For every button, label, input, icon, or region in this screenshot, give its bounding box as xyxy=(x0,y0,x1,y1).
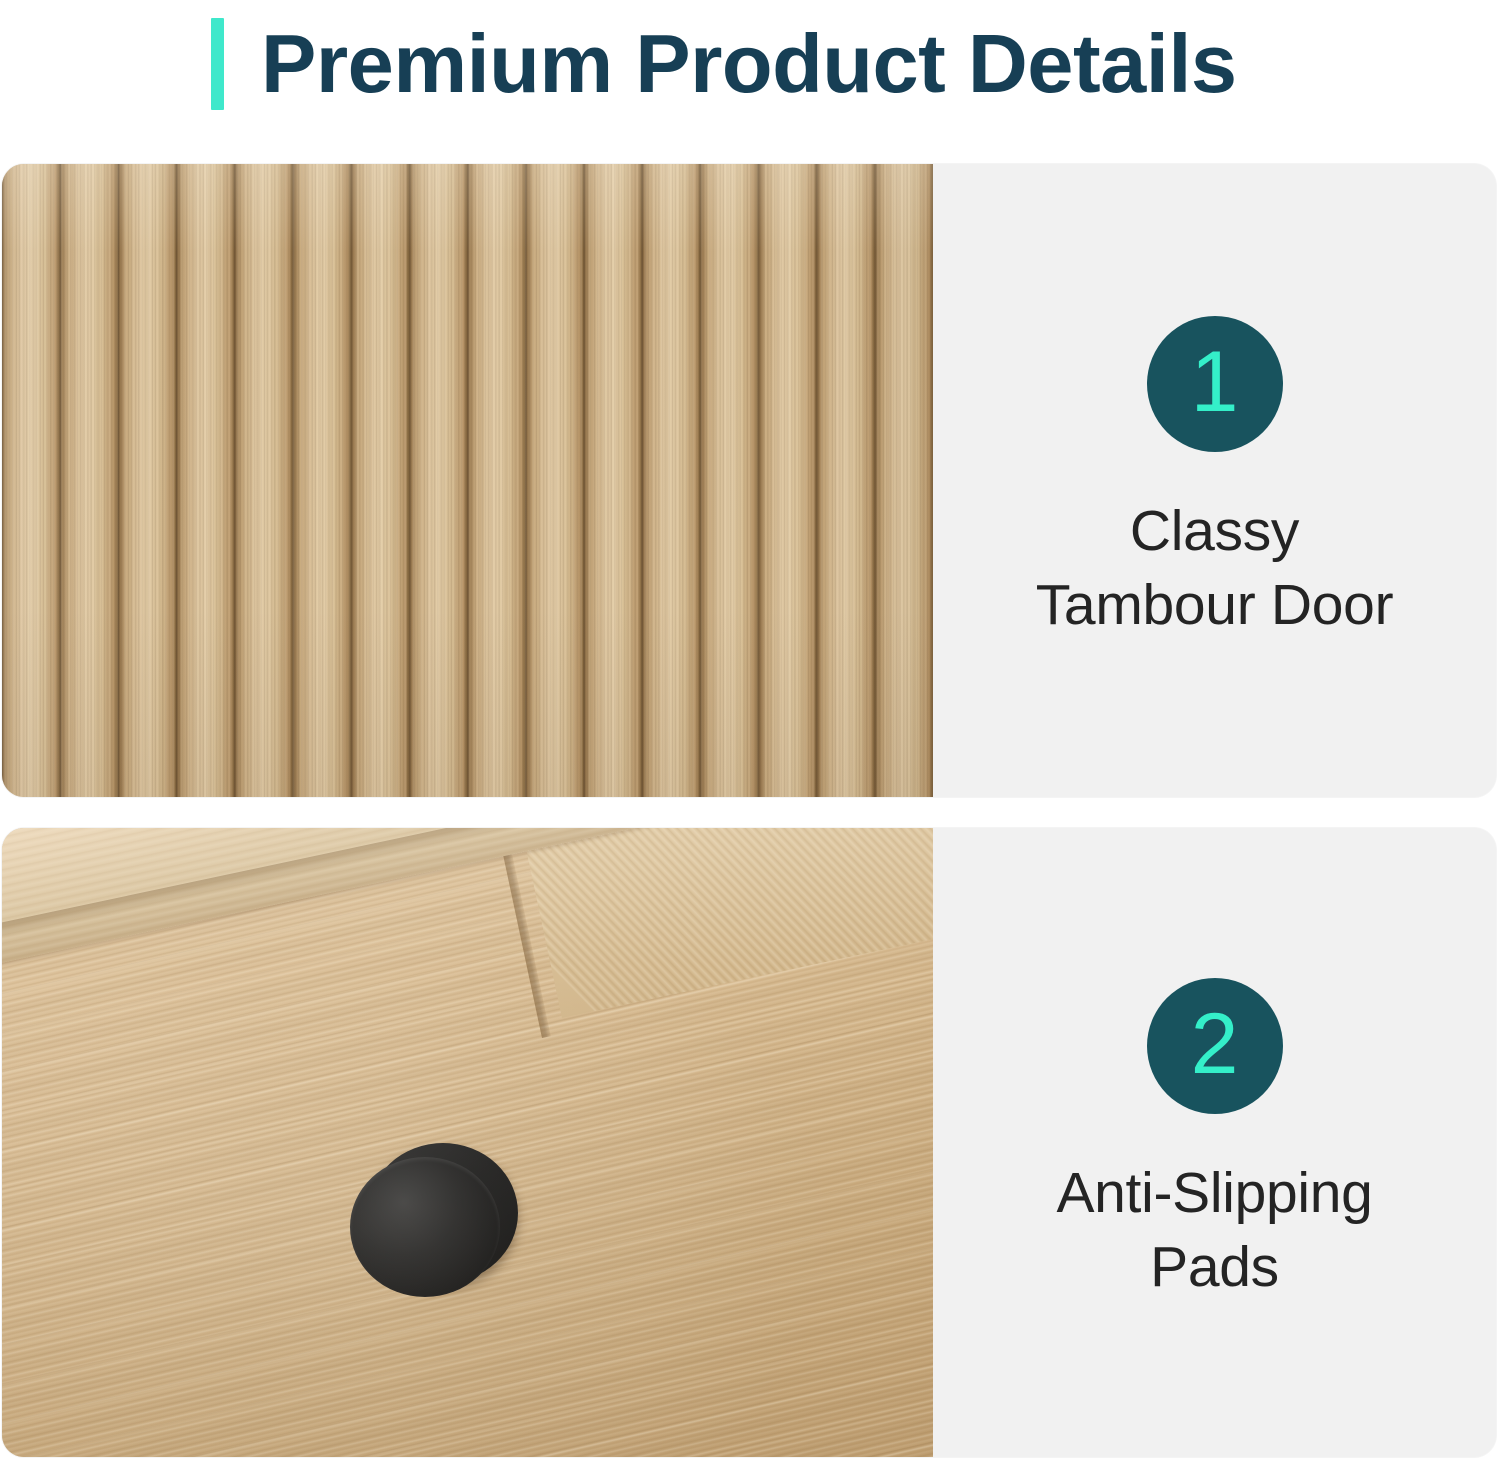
photo-vignette xyxy=(2,164,933,797)
page-title: Premium Product Details xyxy=(261,8,1237,120)
feature-badge-2: 2 xyxy=(1147,978,1283,1114)
anti-slipping-pads-photo xyxy=(2,828,933,1457)
photo2-vignette xyxy=(2,828,933,1457)
accent-bar xyxy=(211,18,224,110)
feature-info-2: 2 Anti-Slipping Pads xyxy=(933,828,1496,1457)
feature-label-1: Classy Tambour Door xyxy=(1036,494,1394,642)
feature-badge-1: 1 xyxy=(1147,316,1283,452)
tambour-door-photo xyxy=(2,164,933,797)
feature-info-1: 1 Classy Tambour Door xyxy=(933,164,1496,797)
product-details-page: Premium Product Details 1 Classy Tambour… xyxy=(0,0,1500,1465)
feature-card-2: 2 Anti-Slipping Pads xyxy=(2,828,1496,1457)
page-header: Premium Product Details xyxy=(0,0,1500,150)
feature-label-2: Anti-Slipping Pads xyxy=(1056,1156,1372,1304)
feature-card-1: 1 Classy Tambour Door xyxy=(2,164,1496,797)
